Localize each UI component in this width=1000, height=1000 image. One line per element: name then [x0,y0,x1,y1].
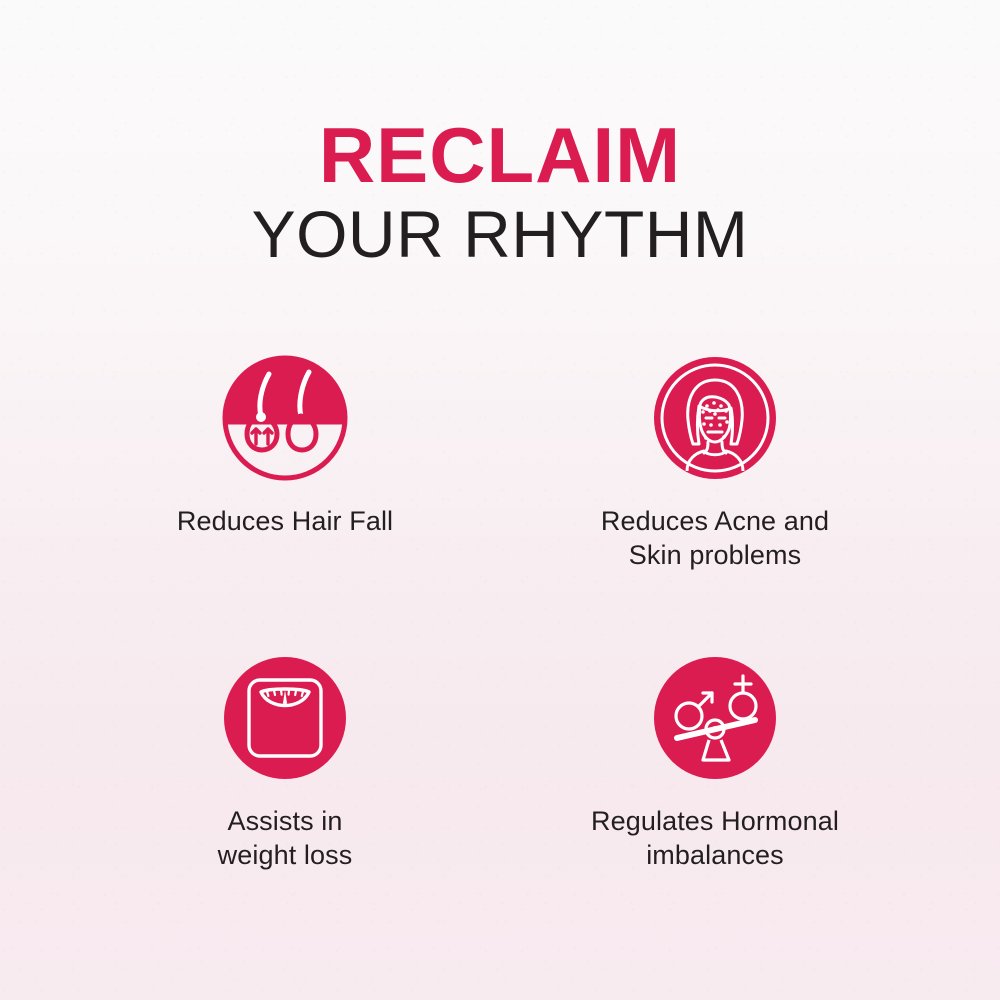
page-title-secondary: YOUR RHYTHM [0,201,1000,268]
benefit-label: Regulates Hormonal imbalances [591,804,839,872]
benefit-label: Reduces Hair Fall [177,504,393,538]
benefits-grid: Reduces Hair Fall [70,354,930,872]
hair-follicle-icon [221,354,349,482]
benefit-label: Reduces Acne and Skin problems [601,504,829,572]
benefit-item-hormonal: Regulates Hormonal imbalances [500,654,930,872]
page-title-primary: RECLAIM [0,118,1000,193]
weighing-scale-icon [221,654,349,782]
acne-face-icon [651,354,779,482]
benefit-item-weight-loss: Assists in weight loss [70,654,500,872]
hormone-balance-icon [651,654,779,782]
benefit-item-acne: Reduces Acne and Skin problems [500,354,930,572]
promo-poster: RECLAIM YOUR RHYTHM [0,0,1000,1000]
benefit-label: Assists in weight loss [218,804,353,872]
page-heading: RECLAIM YOUR RHYTHM [0,0,1000,268]
benefit-item-hair-fall: Reduces Hair Fall [70,354,500,572]
